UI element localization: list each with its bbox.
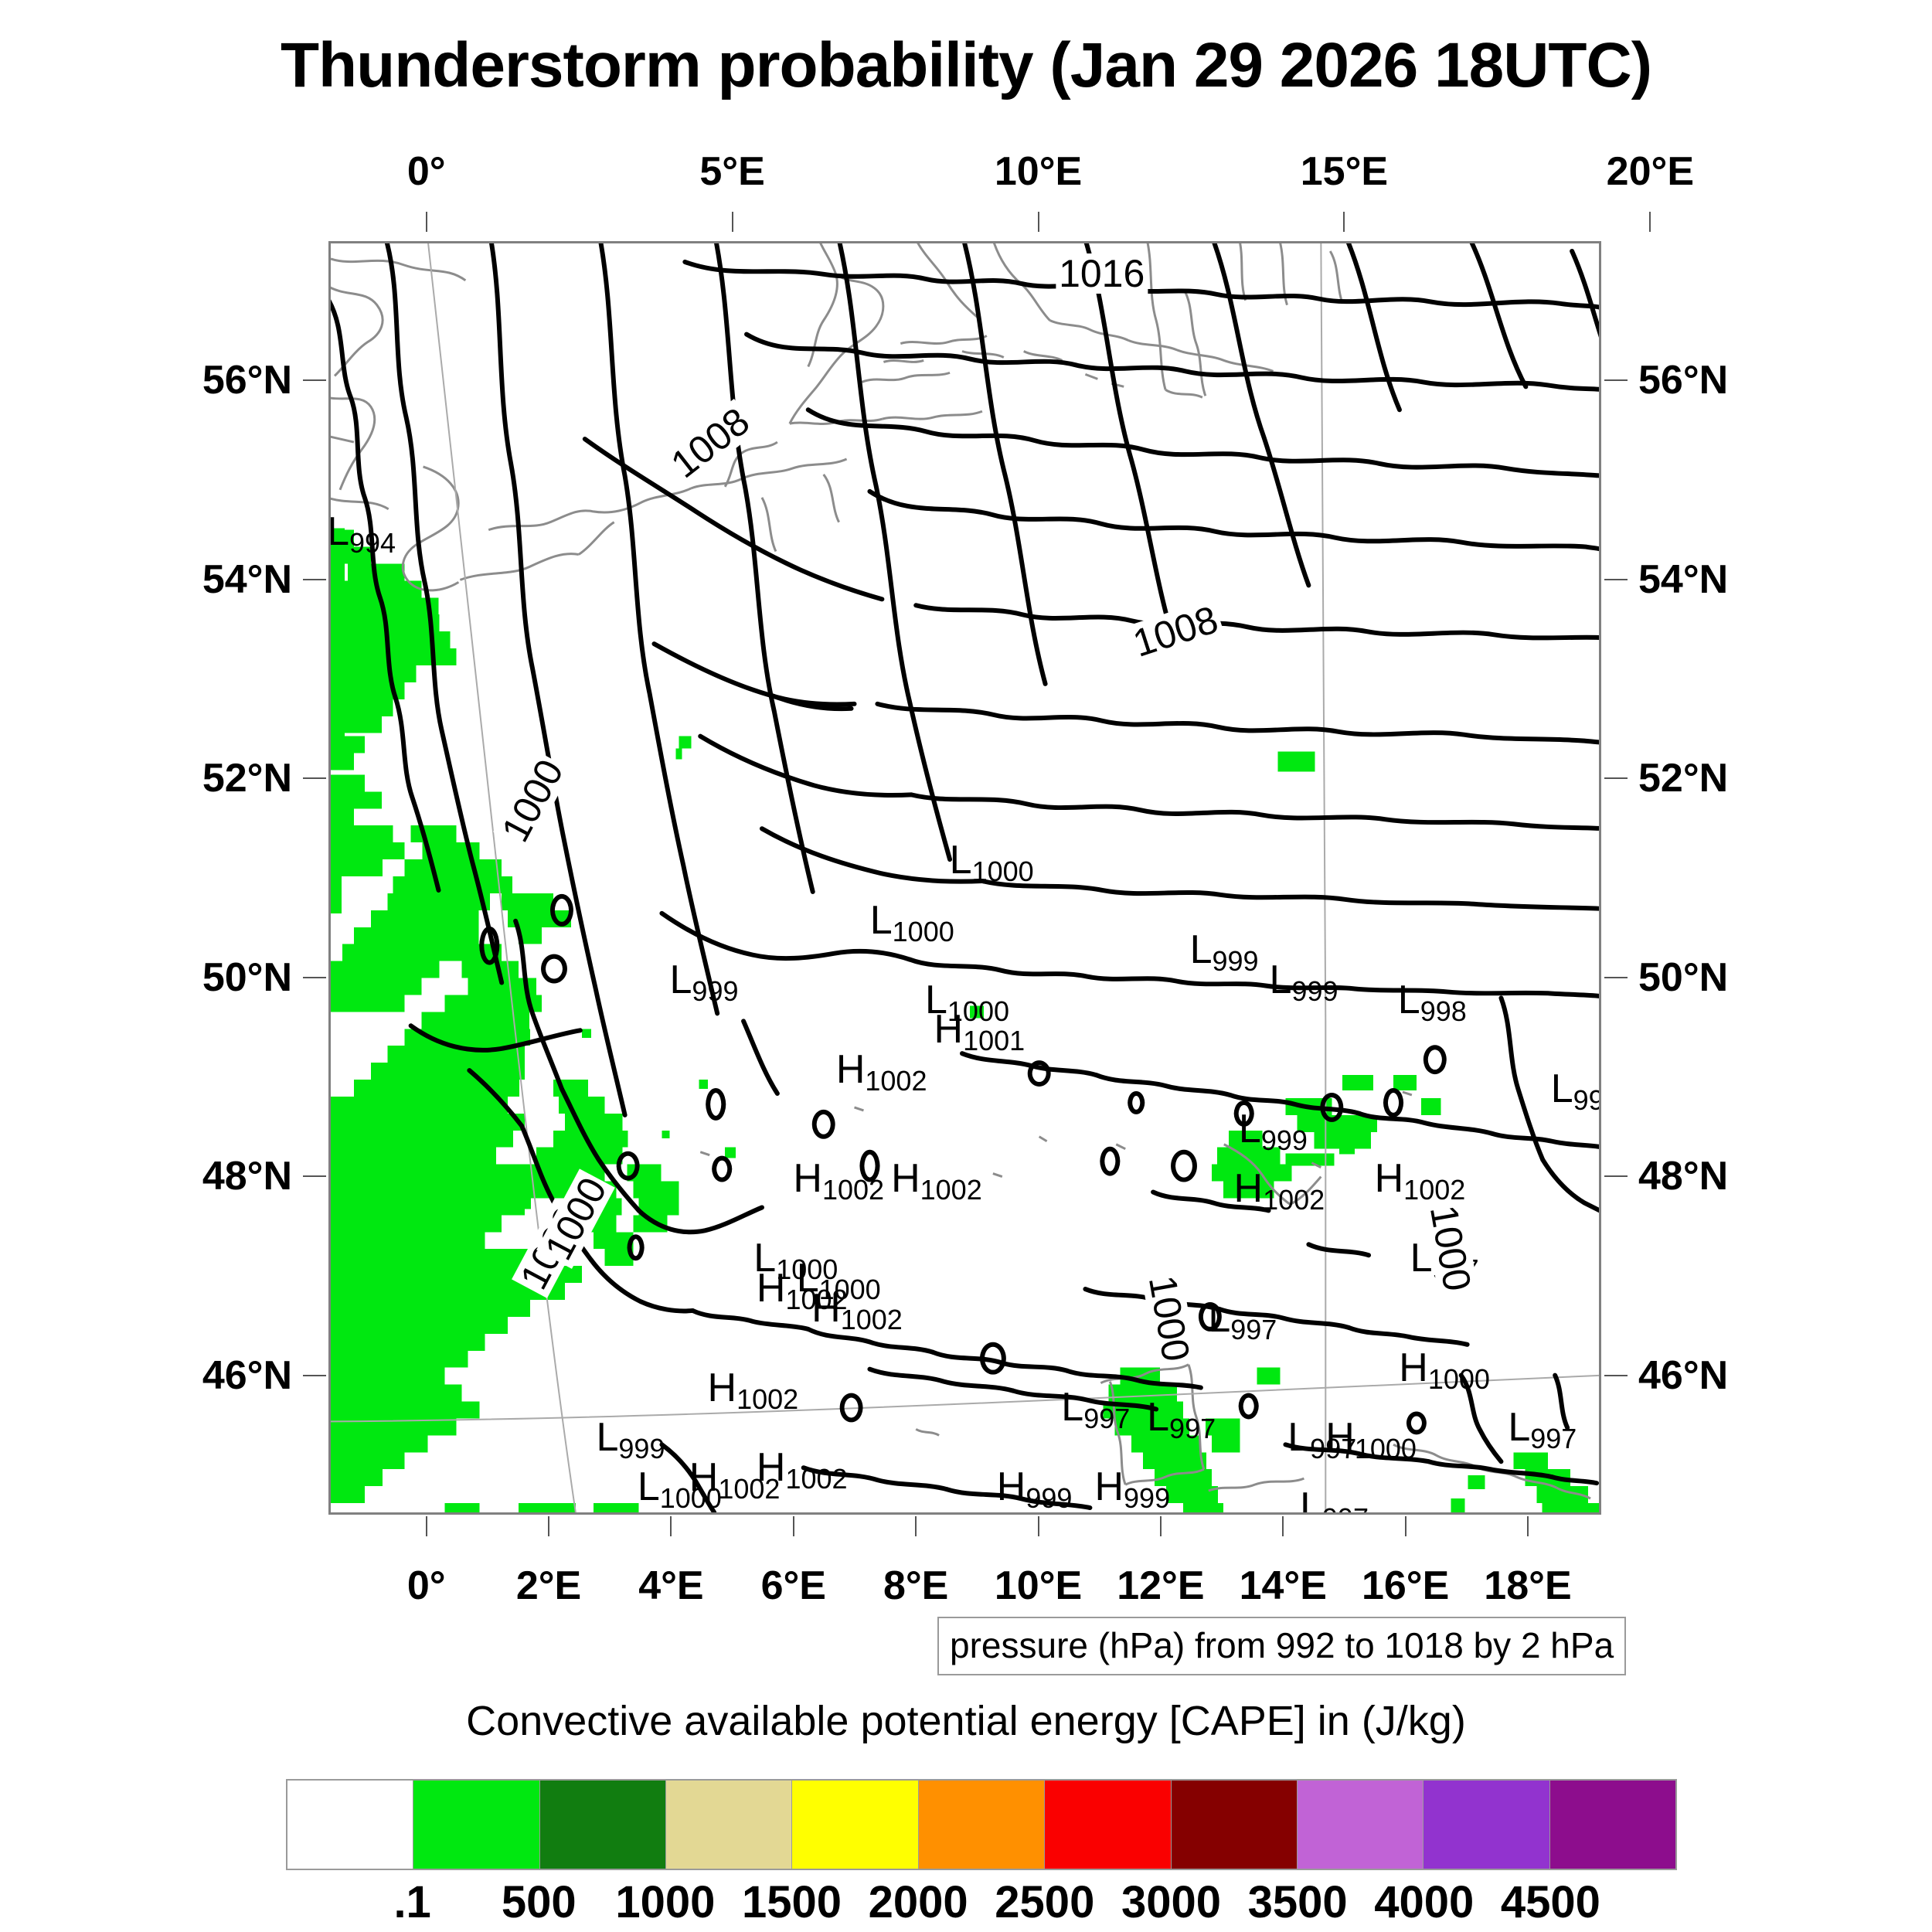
- pressure-centre-value: 1000: [893, 916, 954, 947]
- pressure-centre-high-33: H999: [997, 1467, 1073, 1507]
- pressure-centre-value: 999: [618, 1433, 665, 1464]
- pressure-centre-high-23: H1002: [708, 1368, 799, 1408]
- colorbar-caption: Convective available potential energy [C…: [0, 1697, 1932, 1745]
- pressure-centre-type: L: [1239, 1107, 1261, 1151]
- pressure-centre-low-7: L998: [1398, 980, 1467, 1020]
- lat-tick-label-left-1: 54°N: [202, 556, 292, 603]
- pressure-centre-low-25: L997: [1147, 1397, 1216, 1437]
- colorbar-segment-4[interactable]: [791, 1781, 917, 1869]
- lat-tick-label-right-0: 56°N: [1638, 357, 1728, 403]
- pressure-centre-low-24: L997: [1061, 1387, 1130, 1427]
- colorbar-tick-7: 3500: [1248, 1876, 1348, 1928]
- pressure-centre-value: 1002: [920, 1174, 982, 1206]
- lon-tick-label-top-1: 5°E: [699, 148, 764, 195]
- pressure-centre-low-8: L999: [1551, 1069, 1601, 1109]
- lon-tick-mark-bottom-2: [670, 1516, 672, 1536]
- pressure-centre-high-14: H1002: [1234, 1168, 1325, 1209]
- colorbar-segment-10[interactable]: [1549, 1781, 1675, 1869]
- colorbar-segment-2[interactable]: [539, 1781, 665, 1869]
- lon-tick-label-top-0: 0°: [407, 148, 446, 195]
- lat-tick-mark-right-5: [1604, 1375, 1628, 1376]
- pressure-centre-value: 997: [1083, 1403, 1130, 1434]
- lon-tick-label-top-3: 15°E: [1301, 148, 1388, 195]
- pressure-centre-value: 997: [1530, 1423, 1577, 1454]
- pressure-centre-value: 1002: [822, 1174, 884, 1206]
- lon-tick-label-bottom-2: 4°E: [638, 1563, 703, 1609]
- pressure-centre-type: H: [689, 1455, 719, 1500]
- pressure-centre-type: H: [811, 1286, 841, 1331]
- pressure-centre-type: L: [1398, 978, 1420, 1022]
- map-plot-area[interactable]: L994L1000L1000L999L1000L999L999L998L999H…: [328, 241, 1601, 1515]
- colorbar-segment-0[interactable]: [287, 1781, 413, 1869]
- pressure-centre-value: 997: [1169, 1413, 1216, 1444]
- lon-tick-label-bottom-0: 0°: [407, 1563, 446, 1609]
- lat-tick-mark-right-2: [1604, 777, 1628, 779]
- contour-label-1016-0: 1016: [1056, 253, 1148, 294]
- colorbar-tick-3: 1500: [742, 1876, 842, 1928]
- pressure-centre-type: H: [793, 1156, 822, 1201]
- pressure-centre-type: H: [1399, 1345, 1428, 1390]
- pressure-centre-high-12: H1002: [793, 1158, 884, 1199]
- pressure-centre-value: 1002: [785, 1463, 847, 1495]
- lat-tick-label-left-2: 52°N: [202, 755, 292, 801]
- pressure-centre-low-5: L999: [1190, 930, 1259, 970]
- pressure-centre-type: L: [870, 898, 893, 943]
- lon-tick-mark-bottom-4: [915, 1516, 917, 1536]
- pressure-centre-value: 999: [692, 975, 738, 1007]
- pressure-centre-type: L: [1190, 927, 1213, 972]
- pressure-centre-type: H: [757, 1445, 786, 1490]
- pressure-centre-high-15: H1002: [1375, 1158, 1466, 1199]
- pressure-centre-low-3: L999: [670, 960, 739, 1000]
- lat-tick-mark-left-3: [303, 977, 326, 978]
- pressure-centre-value: 999: [1573, 1084, 1601, 1116]
- pressure-centre-value: 997: [1322, 1502, 1369, 1515]
- lon-tick-mark-top-4: [1649, 212, 1651, 232]
- pressure-centre-value: 1000: [1428, 1363, 1490, 1395]
- colorbar-tick-9: 4500: [1501, 1876, 1600, 1928]
- lon-tick-mark-bottom-1: [548, 1516, 549, 1536]
- pressure-centre-type: L: [1287, 1415, 1310, 1460]
- colorbar-segment-1[interactable]: [413, 1781, 539, 1869]
- lat-tick-label-left-5: 46°N: [202, 1352, 292, 1399]
- lat-tick-label-left-0: 56°N: [202, 357, 292, 403]
- colorbar-segment-8[interactable]: [1297, 1781, 1423, 1869]
- lon-tick-label-bottom-3: 6°E: [761, 1563, 826, 1609]
- pressure-centre-high-22: H1000: [1399, 1348, 1490, 1388]
- lon-tick-mark-bottom-7: [1282, 1516, 1284, 1536]
- pressure-centre-high-10: H1002: [836, 1049, 927, 1090]
- lon-tick-mark-bottom-9: [1527, 1516, 1529, 1536]
- colorbar-tick-labels: .150010001500200025003000350040004500: [286, 1876, 1677, 1930]
- lon-tick-mark-top-3: [1343, 212, 1345, 232]
- pressure-centre-low-29: L997: [1508, 1407, 1577, 1447]
- colorbar-tick-0: .1: [393, 1876, 430, 1928]
- pressure-centre-type: L: [1208, 1296, 1230, 1341]
- pressure-centre-type: L: [1551, 1066, 1573, 1111]
- pressure-centre-high-9: H1001: [934, 1009, 1026, 1049]
- pressure-centre-type: H: [1234, 1166, 1264, 1211]
- colorbar-segment-3[interactable]: [665, 1781, 791, 1869]
- lat-tick-mark-left-2: [303, 777, 326, 779]
- pressure-centre-value: 1001: [963, 1025, 1025, 1056]
- lon-tick-label-top-2: 10°E: [995, 148, 1082, 195]
- thunderstorm-probability-map: Thunderstorm probability (Jan 29 2026 18…: [0, 0, 1932, 1932]
- pressure-centre-low-1: L1000: [950, 840, 1034, 880]
- pressure-centre-value: 1002: [736, 1383, 798, 1415]
- pressure-centre-value: 1002: [865, 1065, 927, 1097]
- pressure-centre-value: 1002: [841, 1304, 903, 1335]
- pressure-centre-low-35: L997: [1300, 1487, 1369, 1515]
- colorbar-segment-5[interactable]: [918, 1781, 1044, 1869]
- lon-tick-mark-bottom-0: [426, 1516, 427, 1536]
- pressure-centre-type: H: [1325, 1415, 1355, 1460]
- pressure-centre-low-11: L999: [1239, 1109, 1308, 1149]
- lon-tick-label-bottom-9: 18°E: [1484, 1563, 1571, 1609]
- lat-tick-mark-right-3: [1604, 977, 1628, 978]
- pressure-centre-value: 999: [1212, 945, 1258, 977]
- pressure-centre-type: H: [997, 1464, 1026, 1509]
- lon-tick-mark-top-2: [1038, 212, 1039, 232]
- lat-tick-mark-left-4: [303, 1175, 326, 1177]
- pressure-centre-high-32: H1002: [757, 1447, 848, 1488]
- pressure-legend-note: pressure (hPa) from 992 to 1018 by 2 hPa: [937, 1617, 1626, 1675]
- pressure-centre-type: H: [757, 1266, 786, 1311]
- pressure-centre-high-19: H1002: [811, 1288, 903, 1328]
- pressure-centre-type: L: [1061, 1385, 1083, 1430]
- lat-tick-label-left-4: 48°N: [202, 1153, 292, 1199]
- pressure-centre-type: H: [891, 1156, 920, 1201]
- lon-tick-mark-bottom-8: [1405, 1516, 1406, 1536]
- pressure-centre-value: 999: [1124, 1482, 1170, 1514]
- colorbar-segment-9[interactable]: [1423, 1781, 1549, 1869]
- colorbar-tick-6: 3000: [1121, 1876, 1221, 1928]
- pressure-centre-low-6: L999: [1270, 960, 1338, 1000]
- lat-tick-label-right-3: 50°N: [1638, 954, 1728, 1001]
- pressure-centre-value: 999: [1026, 1482, 1072, 1514]
- lon-tick-label-bottom-6: 12°E: [1117, 1563, 1204, 1609]
- pressure-centre-type: L: [670, 957, 692, 1002]
- lat-tick-label-right-4: 48°N: [1638, 1153, 1728, 1199]
- lon-tick-label-bottom-4: 8°E: [883, 1563, 948, 1609]
- lat-tick-mark-right-0: [1604, 379, 1628, 381]
- lon-tick-mark-top-1: [732, 212, 733, 232]
- pressure-centre-type: H: [1094, 1464, 1124, 1509]
- colorbar-segment-6[interactable]: [1044, 1781, 1170, 1869]
- lon-tick-label-bottom-8: 16°E: [1362, 1563, 1449, 1609]
- pressure-centre-type: L: [638, 1464, 660, 1509]
- pressure-centre-type: L: [1270, 957, 1292, 1002]
- lon-tick-label-bottom-7: 14°E: [1240, 1563, 1327, 1609]
- colorbar-tick-4: 2000: [869, 1876, 968, 1928]
- pressure-centre-type: H: [934, 1007, 964, 1052]
- pressure-centre-value: 994: [349, 527, 396, 559]
- lat-tick-mark-left-0: [303, 379, 326, 381]
- pressure-centre-type: L: [1147, 1395, 1169, 1440]
- pressure-centre-value: 997: [1230, 1314, 1277, 1345]
- lon-tick-label-bottom-5: 10°E: [995, 1563, 1082, 1609]
- colorbar-tick-5: 2500: [995, 1876, 1094, 1928]
- pressure-centre-value: 1000: [972, 855, 1034, 887]
- pressure-centre-value: 1000: [1355, 1433, 1417, 1464]
- pressure-centre-type: L: [1300, 1485, 1322, 1515]
- pressure-centre-type: L: [328, 509, 349, 554]
- pressure-centre-value: 999: [1291, 975, 1338, 1007]
- pressure-centre-value: 1002: [1263, 1184, 1325, 1216]
- lon-tick-mark-bottom-6: [1160, 1516, 1162, 1536]
- colorbar-segment-7[interactable]: [1171, 1781, 1297, 1869]
- lat-tick-mark-right-4: [1604, 1175, 1628, 1177]
- lat-tick-label-right-2: 52°N: [1638, 755, 1728, 801]
- lat-tick-mark-left-1: [303, 579, 326, 580]
- pressure-centre-type: H: [1375, 1156, 1404, 1201]
- lat-tick-label-right-1: 54°N: [1638, 556, 1728, 603]
- pressure-centre-type: L: [950, 838, 972, 883]
- pressure-centre-type: L: [1508, 1405, 1530, 1450]
- pressure-centre-low-21: L997: [1208, 1298, 1277, 1338]
- lon-tick-label-top-4: 20°E: [1607, 148, 1694, 195]
- pressure-centre-type: L: [596, 1415, 618, 1460]
- pressure-centre-high-13: H1002: [891, 1158, 982, 1199]
- colorbar-tick-2: 1000: [615, 1876, 715, 1928]
- lat-tick-label-left-3: 50°N: [202, 954, 292, 1001]
- lat-tick-mark-right-1: [1604, 579, 1628, 580]
- colorbar-tick-1: 500: [502, 1876, 577, 1928]
- pressure-centre-low-26: L999: [596, 1417, 665, 1458]
- page-title: Thunderstorm probability (Jan 29 2026 18…: [0, 29, 1932, 102]
- lon-tick-mark-bottom-3: [793, 1516, 794, 1536]
- pressure-centre-value: 998: [1420, 995, 1467, 1027]
- lon-tick-mark-bottom-5: [1038, 1516, 1039, 1536]
- pressure-centre-value: 999: [1261, 1124, 1308, 1156]
- colorbar-tick-8: 4000: [1374, 1876, 1474, 1928]
- lon-tick-label-bottom-1: 2°E: [516, 1563, 581, 1609]
- lat-tick-mark-left-5: [303, 1375, 326, 1376]
- lat-tick-label-right-5: 46°N: [1638, 1352, 1728, 1399]
- pressure-centre-type: H: [708, 1366, 737, 1410]
- pressure-centre-low-2: L1000: [870, 900, 954, 940]
- pressure-centre-high-28: H1000: [1325, 1417, 1417, 1458]
- pressure-centre-low-0: L994: [328, 512, 396, 552]
- lon-tick-mark-top-0: [426, 212, 427, 232]
- pressure-centre-type: H: [836, 1047, 866, 1092]
- cape-colorbar[interactable]: [286, 1779, 1677, 1870]
- pressure-centre-high-34: H999: [1094, 1467, 1170, 1507]
